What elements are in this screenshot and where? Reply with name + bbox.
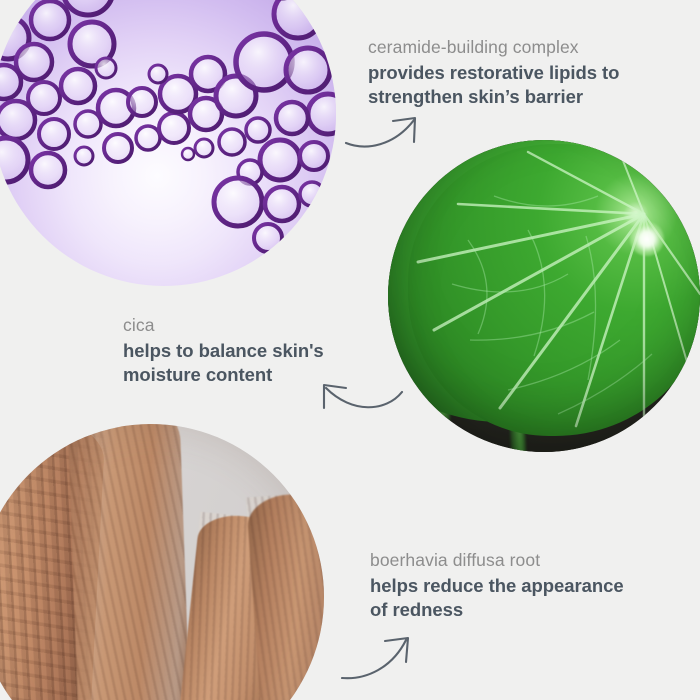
- callout-description-line: provides restorative lipids to: [368, 62, 619, 83]
- root-bark-texture: [246, 491, 324, 700]
- leaf-blade: [408, 144, 700, 436]
- callout-description-line: helps to balance skin's: [123, 340, 324, 361]
- callout-description-boerhavia: helps reduce the appearance of redness: [370, 574, 670, 621]
- callout-cica: cica helps to balance skin's moisture co…: [123, 314, 393, 386]
- root-piece-middle: [67, 424, 193, 700]
- callout-boerhavia: boerhavia diffusa root helps reduce the …: [370, 549, 670, 621]
- ingredient-image-cica-leaf: [388, 140, 700, 452]
- callout-label-cica: cica: [123, 314, 393, 336]
- callout-description-line: helps reduce the appearance: [370, 575, 624, 596]
- callout-ceramide: ceramide-building complex provides resto…: [368, 36, 668, 108]
- ingredient-image-ceramide-bubbles: [0, 0, 336, 286]
- callout-description-line: strengthen skin’s barrier: [368, 86, 583, 107]
- root-bark-texture: [67, 424, 193, 700]
- leaf-center-highlight: [630, 222, 664, 256]
- callout-label-boerhavia: boerhavia diffusa root: [370, 549, 670, 571]
- callout-description-ceramide: provides restorative lipids to strengthe…: [368, 61, 668, 108]
- curved-arrow-up-right-icon: [344, 112, 430, 158]
- callout-description-line: of redness: [370, 599, 463, 620]
- ingredient-image-boerhavia-roots: [0, 424, 324, 700]
- callout-label-ceramide: ceramide-building complex: [368, 36, 668, 58]
- root-piece-right-back: [246, 491, 324, 700]
- infographic-canvas: ceramide-building complex provides resto…: [0, 0, 700, 700]
- leaf-veins: [408, 144, 700, 436]
- foam-bubbles-illustration: [0, 0, 336, 286]
- curved-arrow-up-right-icon: [340, 634, 422, 686]
- callout-description-line: moisture content: [123, 364, 272, 385]
- curved-arrow-up-left-icon: [314, 378, 406, 420]
